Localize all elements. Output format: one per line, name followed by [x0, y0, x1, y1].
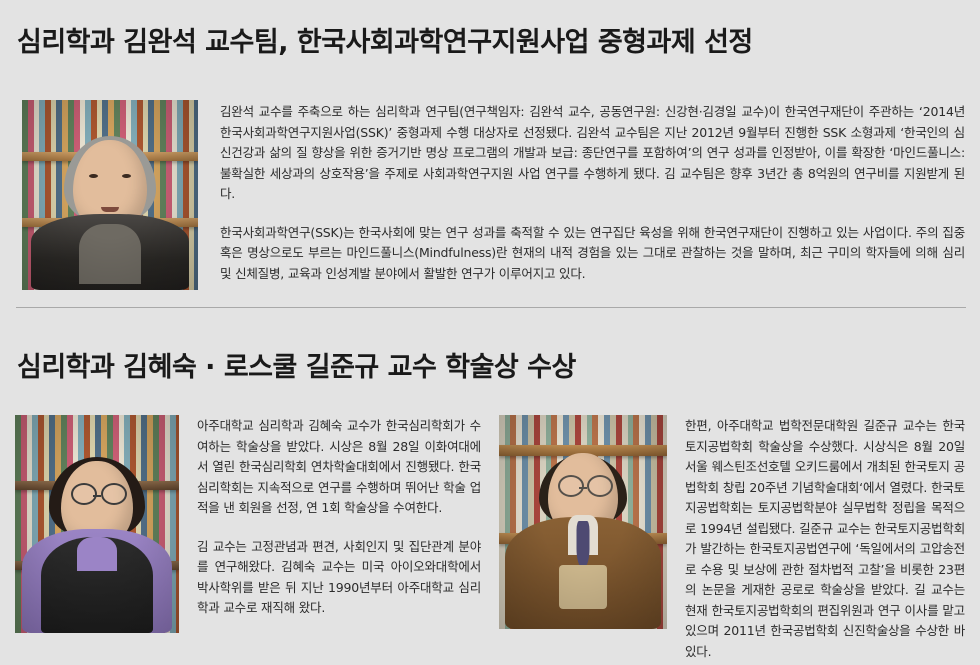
article-2-right-half: 한편, 아주대학교 법학전문대학원 길준규 교수는 한국토지공법학회 학술상을 …: [499, 415, 965, 662]
article-1-headline: 심리학과 김완석 교수팀, 한국사회과학연구지원사업 중형과제 선정: [0, 0, 980, 58]
article-1-body: 김완석 교수를 주축으로 하는 심리학과 연구팀(연구책임자: 김완석 교수, …: [22, 100, 967, 290]
article-1-paragraph-1: 김완석 교수를 주축으로 하는 심리학과 연구팀(연구책임자: 김완석 교수, …: [220, 102, 965, 205]
page-root: 심리학과 김완석 교수팀, 한국사회과학연구지원사업 중형과제 선정: [0, 0, 980, 665]
article-1-paragraph-2: 한국사회과학연구(SSK)는 한국사회에 맞는 연구 성과를 축적할 수 있는 …: [220, 223, 965, 285]
article-2-left-half: 아주대학교 심리학과 김혜숙 교수가 한국심리학회가 수여하는 학술상을 받았다…: [15, 415, 481, 662]
article-2-headline: 심리학과 김혜숙 · 로스쿨 길준규 교수 학술상 수상: [0, 333, 980, 384]
section-divider: [16, 307, 966, 308]
photo-vignette: [15, 415, 179, 633]
photo-vignette: [22, 100, 198, 290]
article-1-text: 김완석 교수를 주축으로 하는 심리학과 연구팀(연구책임자: 김완석 교수, …: [220, 100, 965, 290]
professor-kim-hyesook-photo: [15, 415, 179, 633]
article-2-body: 아주대학교 심리학과 김혜숙 교수가 한국심리학회가 수여하는 학술상을 받았다…: [15, 415, 967, 662]
article-kim-hyesook-gil-jungyu: 심리학과 김혜숙 · 로스쿨 길준규 교수 학술상 수상: [0, 333, 980, 384]
article-2-left-paragraph-2: 김 교수는 고정관념과 편견, 사회인지 및 집단관계 분야를 연구해왔다. 김…: [197, 537, 481, 619]
article-2-right-paragraph-1: 한편, 아주대학교 법학전문대학원 길준규 교수는 한국토지공법학회 학술상을 …: [685, 416, 965, 662]
article-2-left-paragraph-1: 아주대학교 심리학과 김혜숙 교수가 한국심리학회가 수여하는 학술상을 받았다…: [197, 416, 481, 519]
photo-vignette: [499, 415, 667, 629]
article-kim-wanseok: 심리학과 김완석 교수팀, 한국사회과학연구지원사업 중형과제 선정: [0, 0, 980, 58]
professor-kim-wanseok-photo: [22, 100, 198, 290]
professor-gil-jungyu-photo: [499, 415, 667, 629]
article-2-right-text: 한편, 아주대학교 법학전문대학원 길준규 교수는 한국토지공법학회 학술상을 …: [685, 415, 965, 662]
article-2-left-text: 아주대학교 심리학과 김혜숙 교수가 한국심리학회가 수여하는 학술상을 받았다…: [197, 415, 481, 662]
